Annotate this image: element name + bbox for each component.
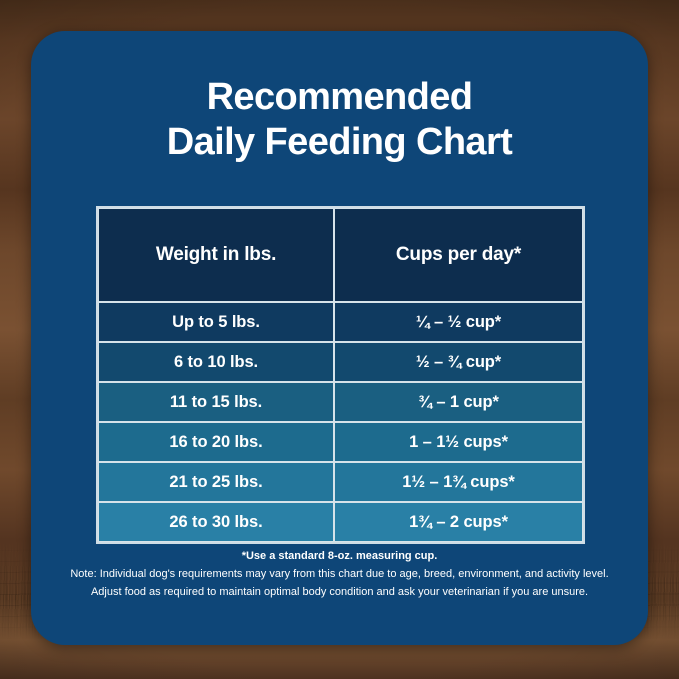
table-row: Up to 5 lbs. ¼ – ½ cup* xyxy=(98,302,583,342)
cell-cups: 1 – 1½ cups* xyxy=(334,422,583,462)
footnote: *Use a standard 8-oz. measuring cup. Not… xyxy=(31,547,648,601)
table-row: 16 to 20 lbs. 1 – 1½ cups* xyxy=(98,422,583,462)
cell-weight: Up to 5 lbs. xyxy=(98,302,334,342)
table-row: 26 to 30 lbs. 1¾ – 2 cups* xyxy=(98,502,583,542)
cell-weight: 21 to 25 lbs. xyxy=(98,462,334,502)
cell-cups: 1½ – 1¾ cups* xyxy=(334,462,583,502)
cell-weight: 11 to 15 lbs. xyxy=(98,382,334,422)
footnote-line-3: Adjust food as required to maintain opti… xyxy=(49,583,630,601)
cell-weight: 6 to 10 lbs. xyxy=(98,342,334,382)
page-title: Recommended Daily Feeding Chart xyxy=(31,75,648,165)
table-row: 21 to 25 lbs. 1½ – 1¾ cups* xyxy=(98,462,583,502)
table-row: 11 to 15 lbs. ¾ – 1 cup* xyxy=(98,382,583,422)
cell-cups: ½ – ¾ cup* xyxy=(334,342,583,382)
table-row: 6 to 10 lbs. ½ – ¾ cup* xyxy=(98,342,583,382)
feeding-chart-card: Recommended Daily Feeding Chart Weight i… xyxy=(31,31,648,645)
page-title-line-1: Recommended xyxy=(31,75,648,120)
cell-cups: 1¾ – 2 cups* xyxy=(334,502,583,542)
column-header-weight: Weight in lbs. xyxy=(98,208,334,302)
feeding-table: Weight in lbs. Cups per day* Up to 5 lbs… xyxy=(96,206,585,544)
footnote-line-1: *Use a standard 8-oz. measuring cup. xyxy=(49,547,630,565)
cell-cups: ¼ – ½ cup* xyxy=(334,302,583,342)
footnote-line-2: Note: Individual dog's requirements may … xyxy=(49,565,630,583)
cell-cups: ¾ – 1 cup* xyxy=(334,382,583,422)
page-title-line-2: Daily Feeding Chart xyxy=(31,120,648,165)
table-header-row: Weight in lbs. Cups per day* xyxy=(98,208,583,302)
cell-weight: 26 to 30 lbs. xyxy=(98,502,334,542)
cell-weight: 16 to 20 lbs. xyxy=(98,422,334,462)
column-header-cups: Cups per day* xyxy=(334,208,583,302)
